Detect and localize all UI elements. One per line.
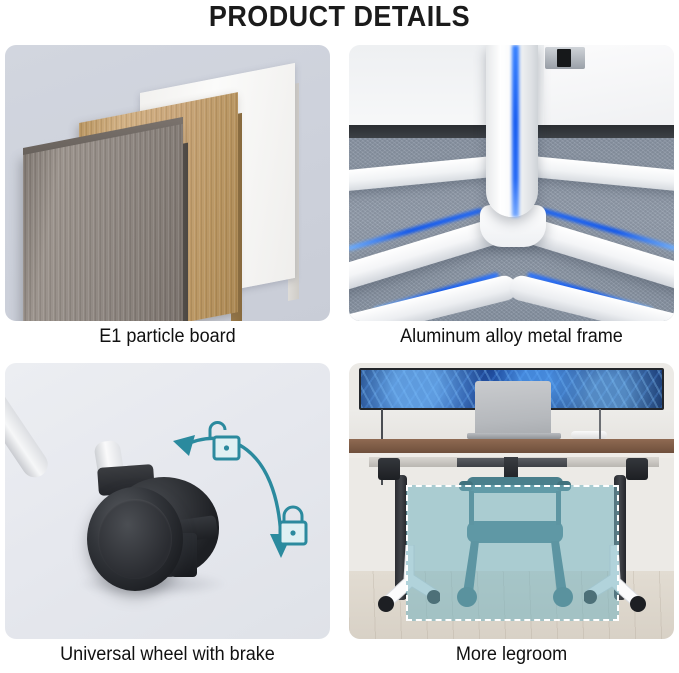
caption-e1-particle-board: E1 particle board (13, 326, 322, 348)
gray-grain-texture (23, 124, 183, 321)
aluminum-frame-image (349, 45, 674, 321)
gray-woodgrain-board (23, 124, 183, 321)
panel-universal-wheel-with-brake: Universal wheel with brake (5, 363, 330, 639)
panel-e1-particle-board: E1 particle board (5, 45, 330, 321)
caption-more-legroom: More legroom (357, 644, 666, 666)
product-details-grid: E1 particle board Aluminum alloy metal (0, 45, 679, 673)
bracket-left (378, 458, 400, 480)
universal-wheel-image (5, 363, 330, 639)
column-led-glow (512, 45, 519, 217)
panel-aluminum-alloy-metal-frame: Aluminum alloy metal frame (349, 45, 674, 321)
lock-icon (272, 503, 314, 549)
bracket-center (504, 457, 518, 477)
page-title: PRODUCT DETAILS (24, 1, 655, 34)
bracket-clamp (545, 47, 585, 69)
caption-universal-wheel-with-brake: Universal wheel with brake (13, 644, 322, 666)
bracket-right (626, 458, 648, 480)
e1-particle-board-image (5, 45, 330, 321)
more-legroom-image (349, 363, 674, 639)
panel-more-legroom: More legroom (349, 363, 674, 639)
unlock-icon (201, 418, 243, 464)
caption-aluminum-alloy-metal-frame: Aluminum alloy metal frame (357, 326, 666, 348)
table-leg-upper (5, 370, 53, 482)
legroom-highlight (406, 485, 619, 621)
curved-arrow-icon (165, 408, 325, 583)
desktop-surface (349, 439, 674, 453)
mouse (571, 431, 607, 439)
laptop (475, 381, 551, 435)
